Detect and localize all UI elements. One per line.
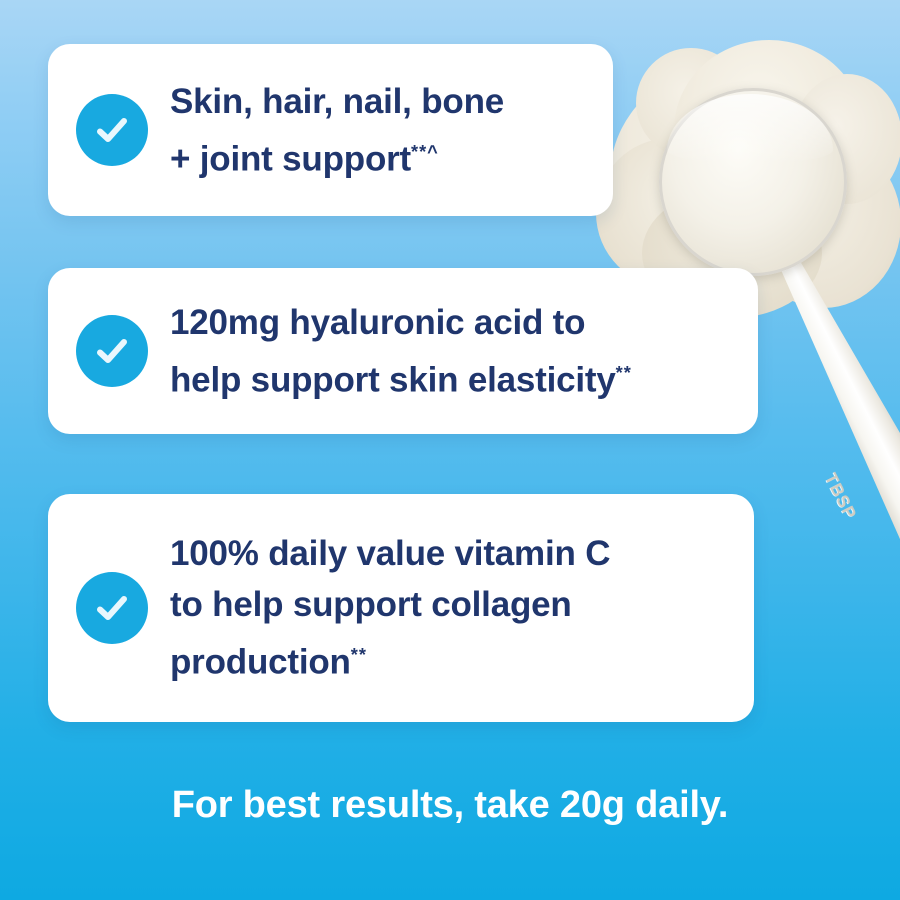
- scoop-rim-highlight: [667, 94, 833, 164]
- benefit-line: Skin, hair, nail, bone: [170, 82, 504, 121]
- benefit-card-2-text: 120mg hyaluronic acid to help support sk…: [170, 297, 632, 406]
- powder-blob: [610, 62, 860, 292]
- product-benefits-graphic: TBSP Skin, hair, nail, bone + joint supp…: [0, 0, 900, 900]
- powder-blob: [792, 74, 900, 204]
- benefit-line: 100% daily value vitamin C: [170, 534, 610, 573]
- scoop-bowl: [659, 88, 847, 276]
- powder-blob: [596, 138, 746, 288]
- benefit-line: 120mg hyaluronic acid to: [170, 303, 585, 342]
- scoop-tbsp-label: TBSP: [820, 470, 860, 523]
- powder-blob: [674, 40, 864, 220]
- usage-note: For best results, take 20g daily.: [0, 784, 900, 827]
- scoop-handle: [745, 214, 900, 632]
- benefit-superscript: **: [616, 363, 632, 383]
- benefit-line: production: [170, 643, 351, 682]
- powder-blob: [636, 48, 746, 158]
- benefit-card-1: Skin, hair, nail, bone + joint support**…: [48, 44, 613, 216]
- check-circle-icon: [76, 315, 148, 387]
- benefit-line: help support skin elasticity: [170, 360, 616, 399]
- benefit-superscript: **: [351, 645, 367, 665]
- check-circle-icon: [76, 572, 148, 644]
- benefit-card-1-text: Skin, hair, nail, bone + joint support**…: [170, 76, 504, 185]
- benefit-card-3-text: 100% daily value vitamin C to help suppo…: [170, 528, 610, 688]
- benefit-line: to help support collagen: [170, 585, 572, 624]
- powder-blob: [746, 138, 900, 308]
- benefit-card-3: 100% daily value vitamin C to help suppo…: [48, 494, 754, 722]
- benefit-card-2: 120mg hyaluronic acid to help support sk…: [48, 268, 758, 434]
- benefit-line: + joint support: [170, 139, 411, 178]
- benefit-superscript: **^: [411, 142, 439, 162]
- check-circle-icon: [76, 94, 148, 166]
